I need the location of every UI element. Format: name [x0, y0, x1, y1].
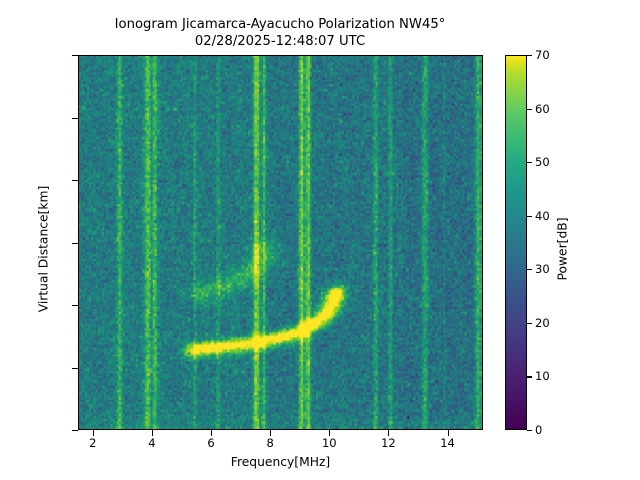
- x-tick-label: 2: [89, 436, 96, 450]
- colorbar-tick-label: 70: [535, 48, 550, 62]
- y-axis-label: Virtual Distance[km]: [37, 62, 51, 437]
- x-tick-mark: [388, 430, 389, 436]
- colorbar: [505, 55, 527, 430]
- x-tick-label: 8: [266, 436, 273, 450]
- y-tick-mark: [72, 305, 78, 306]
- y-tick-mark: [72, 368, 78, 369]
- x-tick-mark: [329, 430, 330, 436]
- colorbar-tick-mark: [527, 109, 532, 110]
- colorbar-tick-label: 30: [535, 262, 550, 276]
- colorbar-tick-label: 40: [535, 209, 550, 223]
- chart-title-line-1: Ionogram Jicamarca-Ayacucho Polarization…: [115, 17, 446, 32]
- y-tick-mark: [72, 243, 78, 244]
- x-tick-label: 6: [207, 436, 214, 450]
- y-tick-mark: [72, 180, 78, 181]
- colorbar-tick-mark: [527, 376, 532, 377]
- y-tick-mark: [72, 55, 78, 56]
- x-axis-label: Frequency[MHz]: [78, 455, 483, 469]
- ionogram-figure: Ionogram Jicamarca-Ayacucho Polarization…: [0, 0, 640, 480]
- x-tick-label: 12: [381, 436, 396, 450]
- colorbar-tick-label: 20: [535, 316, 550, 330]
- plot-area: [78, 55, 483, 430]
- colorbar-tick-label: 50: [535, 155, 550, 169]
- x-tick-mark: [448, 430, 449, 436]
- x-tick-mark: [211, 430, 212, 436]
- x-tick-mark: [93, 430, 94, 436]
- colorbar-tick-label: 10: [535, 369, 550, 383]
- x-tick-mark: [152, 430, 153, 436]
- colorbar-tick-mark: [527, 323, 532, 324]
- x-tick-label: 14: [440, 436, 455, 450]
- colorbar-tick-label: 60: [535, 102, 550, 116]
- x-tick-label: 4: [148, 436, 155, 450]
- colorbar-label: Power[dB]: [556, 62, 570, 437]
- colorbar-tick-mark: [527, 269, 532, 270]
- x-tick-mark: [270, 430, 271, 436]
- colorbar-tick-mark: [527, 55, 532, 56]
- chart-title: Ionogram Jicamarca-Ayacucho Polarization…: [0, 17, 560, 50]
- ionogram-heatmap: [79, 56, 482, 429]
- chart-title-line-2: 02/28/2025-12:48:07 UTC: [195, 34, 365, 49]
- colorbar-tick-label: 0: [535, 423, 542, 437]
- colorbar-tick-mark: [527, 162, 532, 163]
- colorbar-tick-mark: [527, 216, 532, 217]
- y-tick-mark: [72, 430, 78, 431]
- y-tick-mark: [72, 118, 78, 119]
- colorbar-tick-mark: [527, 430, 532, 431]
- x-tick-label: 10: [322, 436, 337, 450]
